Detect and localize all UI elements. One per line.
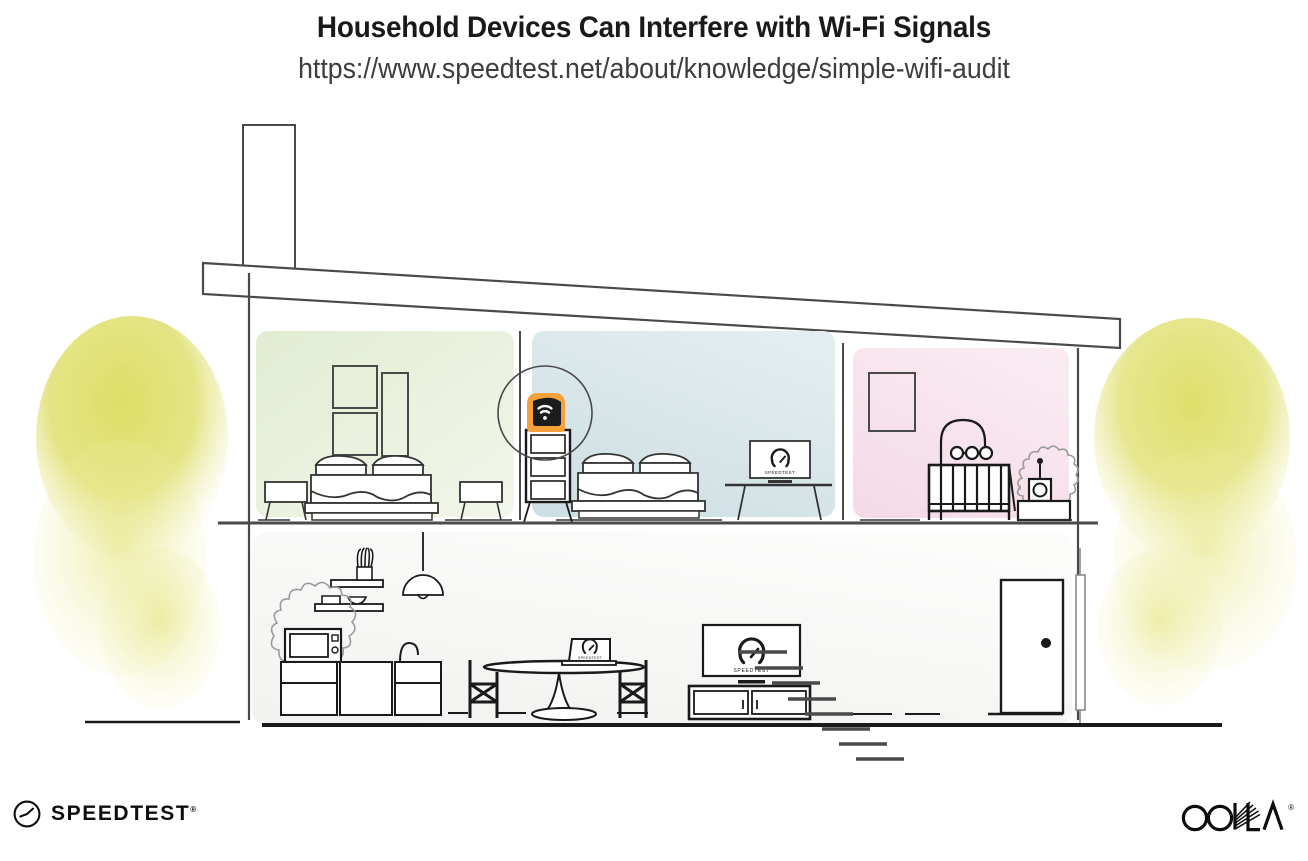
tree-right <box>1094 318 1297 706</box>
house-cutaway-svg: SPEEDTEST <box>0 108 1308 768</box>
speedtest-logo[interactable]: SPEEDTEST® <box>12 799 196 829</box>
speedtest-wordmark: SPEEDTEST® <box>51 802 196 826</box>
tv-caption-upper: SPEEDTEST <box>765 470 796 475</box>
speedtest-gauge-icon <box>12 799 42 829</box>
crib <box>929 465 1015 520</box>
laptop-caption: SPEEDTEST <box>578 656 603 660</box>
ookla-wordmark-icon <box>1180 799 1288 833</box>
ookla-trademark: ® <box>1288 803 1294 812</box>
door-knob <box>1041 638 1051 648</box>
tree-left <box>34 316 228 708</box>
house-illustration: SPEEDTEST <box>0 108 1308 768</box>
page-title: Household Devices Can Interfere with Wi-… <box>46 0 1262 45</box>
wifi-router-badge[interactable] <box>527 393 565 432</box>
page-root: Household Devices Can Interfere with Wi-… <box>0 0 1308 861</box>
television-ground: SPEEDTEST <box>703 625 800 684</box>
chimney <box>243 125 295 272</box>
television-upper: SPEEDTEST <box>750 441 810 483</box>
page-url: https://www.speedtest.net/about/knowledg… <box>52 45 1255 86</box>
footer: SPEEDTEST® ® <box>0 785 1308 861</box>
room-nursery-pink <box>853 348 1078 520</box>
header: Household Devices Can Interfere with Wi-… <box>0 0 1308 86</box>
speedtest-trademark: ® <box>190 805 196 814</box>
room-bedroom-green <box>256 331 514 520</box>
ookla-logo[interactable]: ® <box>1180 799 1294 833</box>
media-console <box>689 686 810 719</box>
exterior-post <box>1076 548 1085 726</box>
side-table <box>1018 501 1070 520</box>
room-living-kitchen: SPEEDTEST <box>252 532 1072 768</box>
microwave <box>285 629 341 662</box>
room-bedroom-blue: SPEEDTEST <box>498 331 835 522</box>
